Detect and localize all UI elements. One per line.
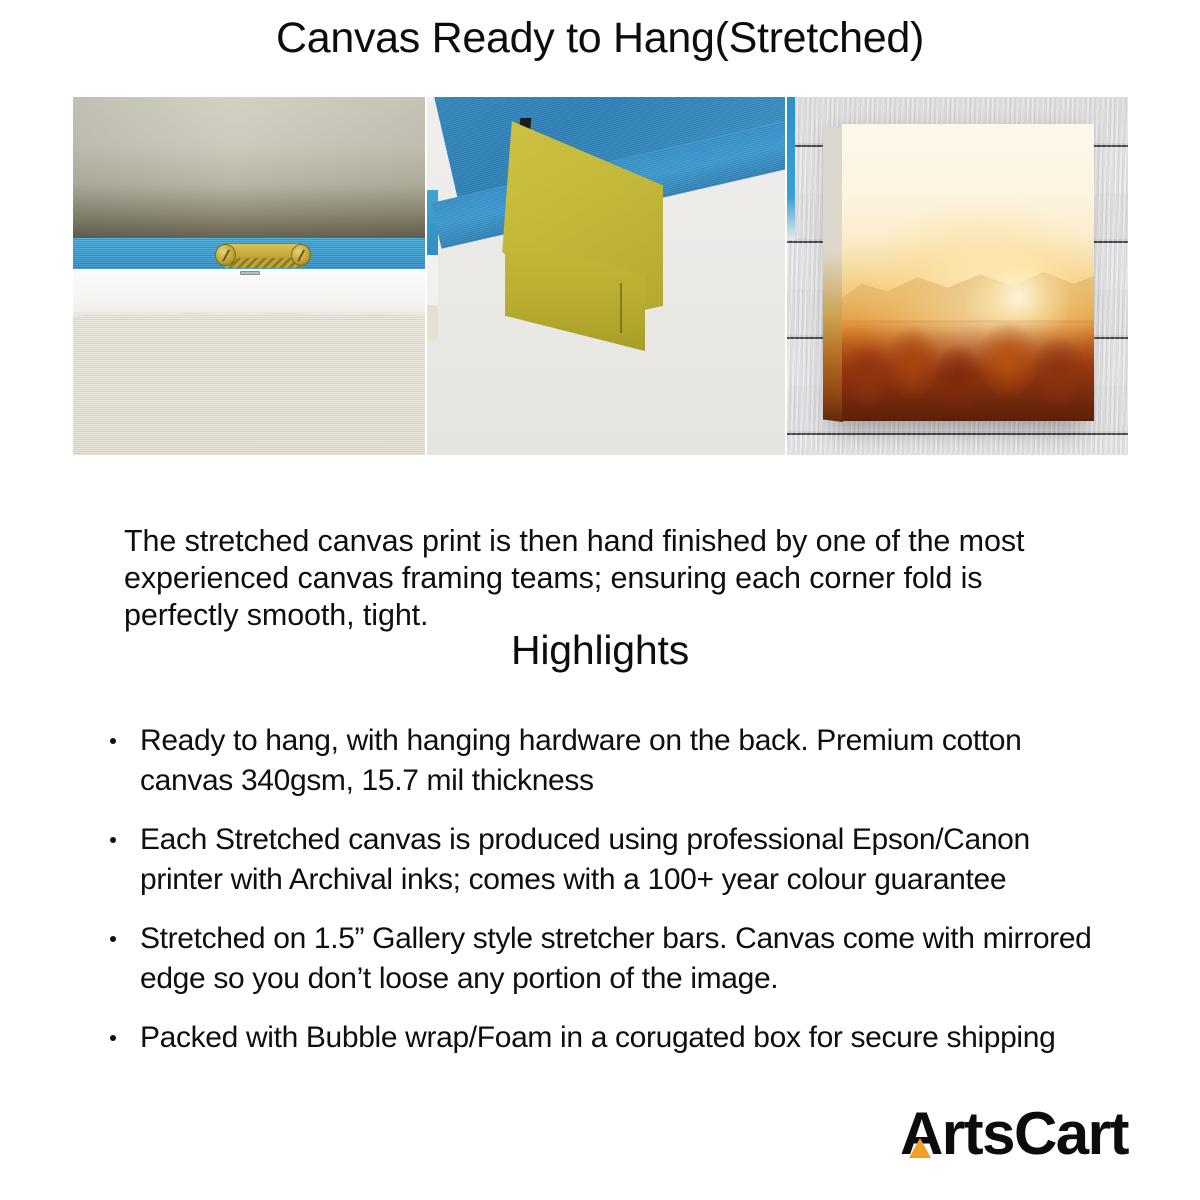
brand-logo-text: ArtsCart xyxy=(900,1104,1128,1164)
canvas-back-wall xyxy=(73,97,425,238)
list-item: Packed with Bubble wrap/Foam in a coruga… xyxy=(106,1018,1116,1058)
list-item: Ready to hang, with hanging hardware on … xyxy=(106,721,1116,801)
list-item-text: Each Stretched canvas is produced using … xyxy=(140,823,1030,896)
page-title: Canvas Ready to Hang(Stretched) xyxy=(0,14,1200,63)
product-photo-canvas-back xyxy=(73,97,425,455)
list-item: Stretched on 1.5” Gallery style stretche… xyxy=(106,919,1116,999)
highlights-heading: Highlights xyxy=(0,627,1200,674)
screw-icon-left xyxy=(215,244,235,266)
product-photo-corner-fold xyxy=(427,97,785,455)
hanger-nub xyxy=(240,271,260,275)
canvas-side-depth xyxy=(823,126,843,423)
product-image-strip xyxy=(73,97,1128,455)
bullet-dot-icon xyxy=(110,936,116,942)
intro-paragraph: The stretched canvas print is then hand … xyxy=(124,523,1072,634)
bullet-dot-icon xyxy=(110,837,116,843)
landscape-foliage xyxy=(842,320,1094,421)
corner-fold-crease xyxy=(620,283,622,333)
bullet-dot-icon xyxy=(110,1035,116,1041)
edge-sliver-canvas xyxy=(427,305,438,341)
brand-logo: ArtsCart xyxy=(900,1104,1128,1166)
screw-icon-right xyxy=(291,244,311,266)
canvas-fabric-face xyxy=(73,312,425,455)
edge-sliver-blue xyxy=(787,97,795,240)
list-item: Each Stretched canvas is produced using … xyxy=(106,820,1116,900)
hung-canvas xyxy=(842,124,1094,421)
triangle-icon xyxy=(909,1138,931,1158)
list-item-text: Ready to hang, with hanging hardware on … xyxy=(140,724,1021,797)
highlights-list: Ready to hang, with hanging hardware on … xyxy=(106,721,1116,1077)
hanger-teeth xyxy=(225,258,302,268)
list-item-text: Packed with Bubble wrap/Foam in a coruga… xyxy=(140,1021,1055,1054)
list-item-text: Stretched on 1.5” Gallery style stretche… xyxy=(140,922,1092,995)
product-photo-canvas-on-wall xyxy=(787,97,1128,455)
bullet-dot-icon xyxy=(110,738,116,744)
canvas-print-face xyxy=(842,124,1094,421)
sawtooth-hanger-icon xyxy=(217,243,309,267)
canvas-white-gap xyxy=(73,269,425,312)
edge-sliver-white xyxy=(427,255,438,305)
